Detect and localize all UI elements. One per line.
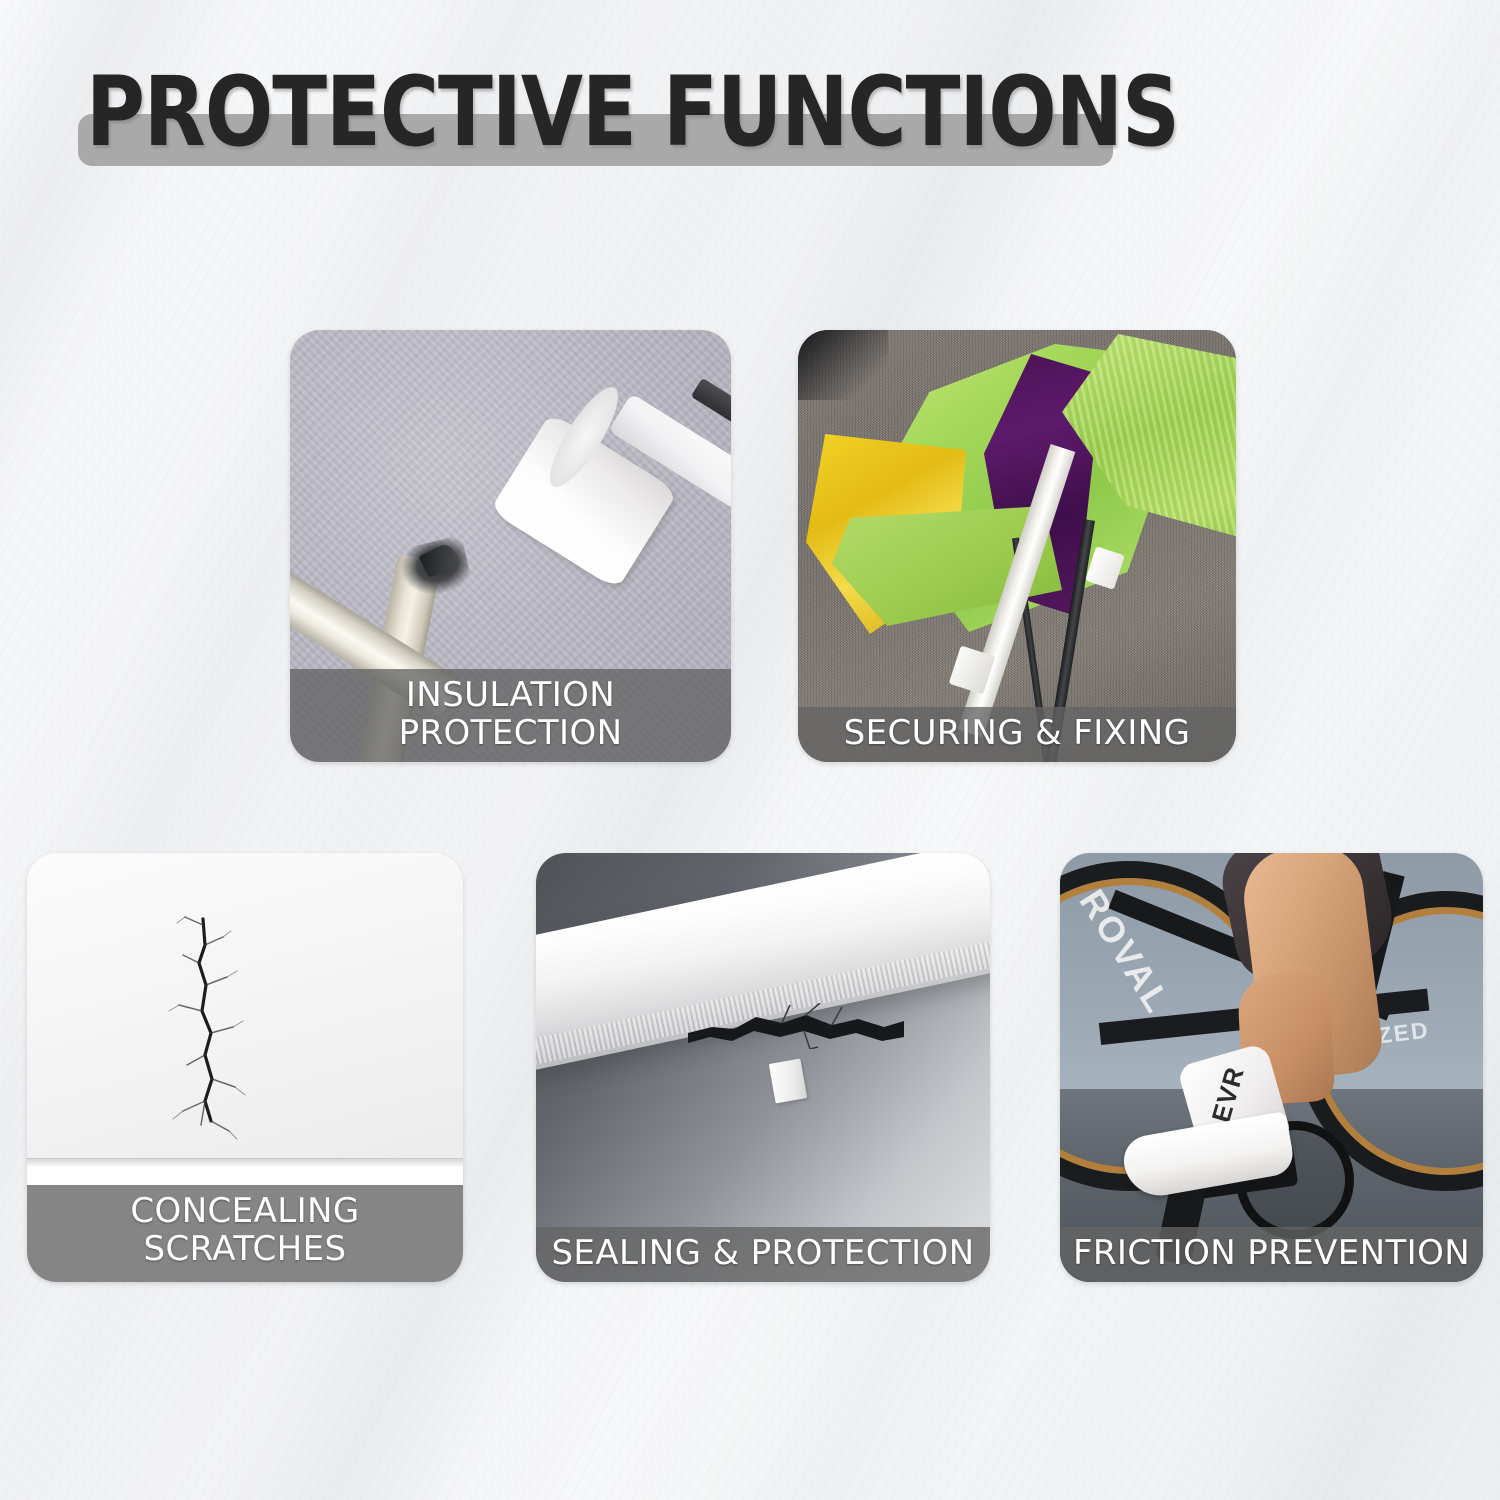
card-caption: INSULATION PROTECTION	[290, 669, 731, 762]
photo-securing-fixing	[798, 330, 1236, 762]
tape-patch	[769, 1059, 807, 1104]
infographic-page: PROTECTIVE FUNCTIONS INSULATION PROTECTI…	[0, 0, 1500, 1500]
corner-shadow	[798, 330, 888, 400]
feature-card-friction-prevention: ROVAL SPECIALIZED EVR FRICTION PREVENTIO…	[1060, 853, 1483, 1282]
page-title: PROTECTIVE FUNCTIONS	[86, 52, 1179, 172]
card-caption: CONCEALING SCRATCHES	[27, 1185, 463, 1282]
card-caption: FRICTION PREVENTION	[1060, 1227, 1483, 1282]
pipe-crack-icon	[686, 1003, 906, 1049]
card-caption-line-1: CONCEALING	[33, 1192, 457, 1230]
feature-card-securing-fixing: SECURING & FIXING	[798, 330, 1236, 762]
card-caption: SECURING & FIXING	[798, 707, 1236, 762]
wall-crack-icon	[145, 915, 275, 1145]
feature-card-sealing-protection: SEALING & PROTECTION	[536, 853, 990, 1282]
photo-friction-prevention: ROVAL SPECIALIZED EVR	[1060, 853, 1483, 1282]
photo-sealing-protection	[536, 853, 990, 1282]
card-caption-line-2: SCRATCHES	[33, 1230, 457, 1268]
page-title-block: PROTECTIVE FUNCTIONS	[78, 52, 1118, 172]
card-caption: SEALING & PROTECTION	[536, 1227, 990, 1282]
feature-card-concealing-scratches: CONCEALING SCRATCHES	[27, 853, 463, 1282]
feature-card-insulation-protection: INSULATION PROTECTION	[290, 330, 731, 762]
